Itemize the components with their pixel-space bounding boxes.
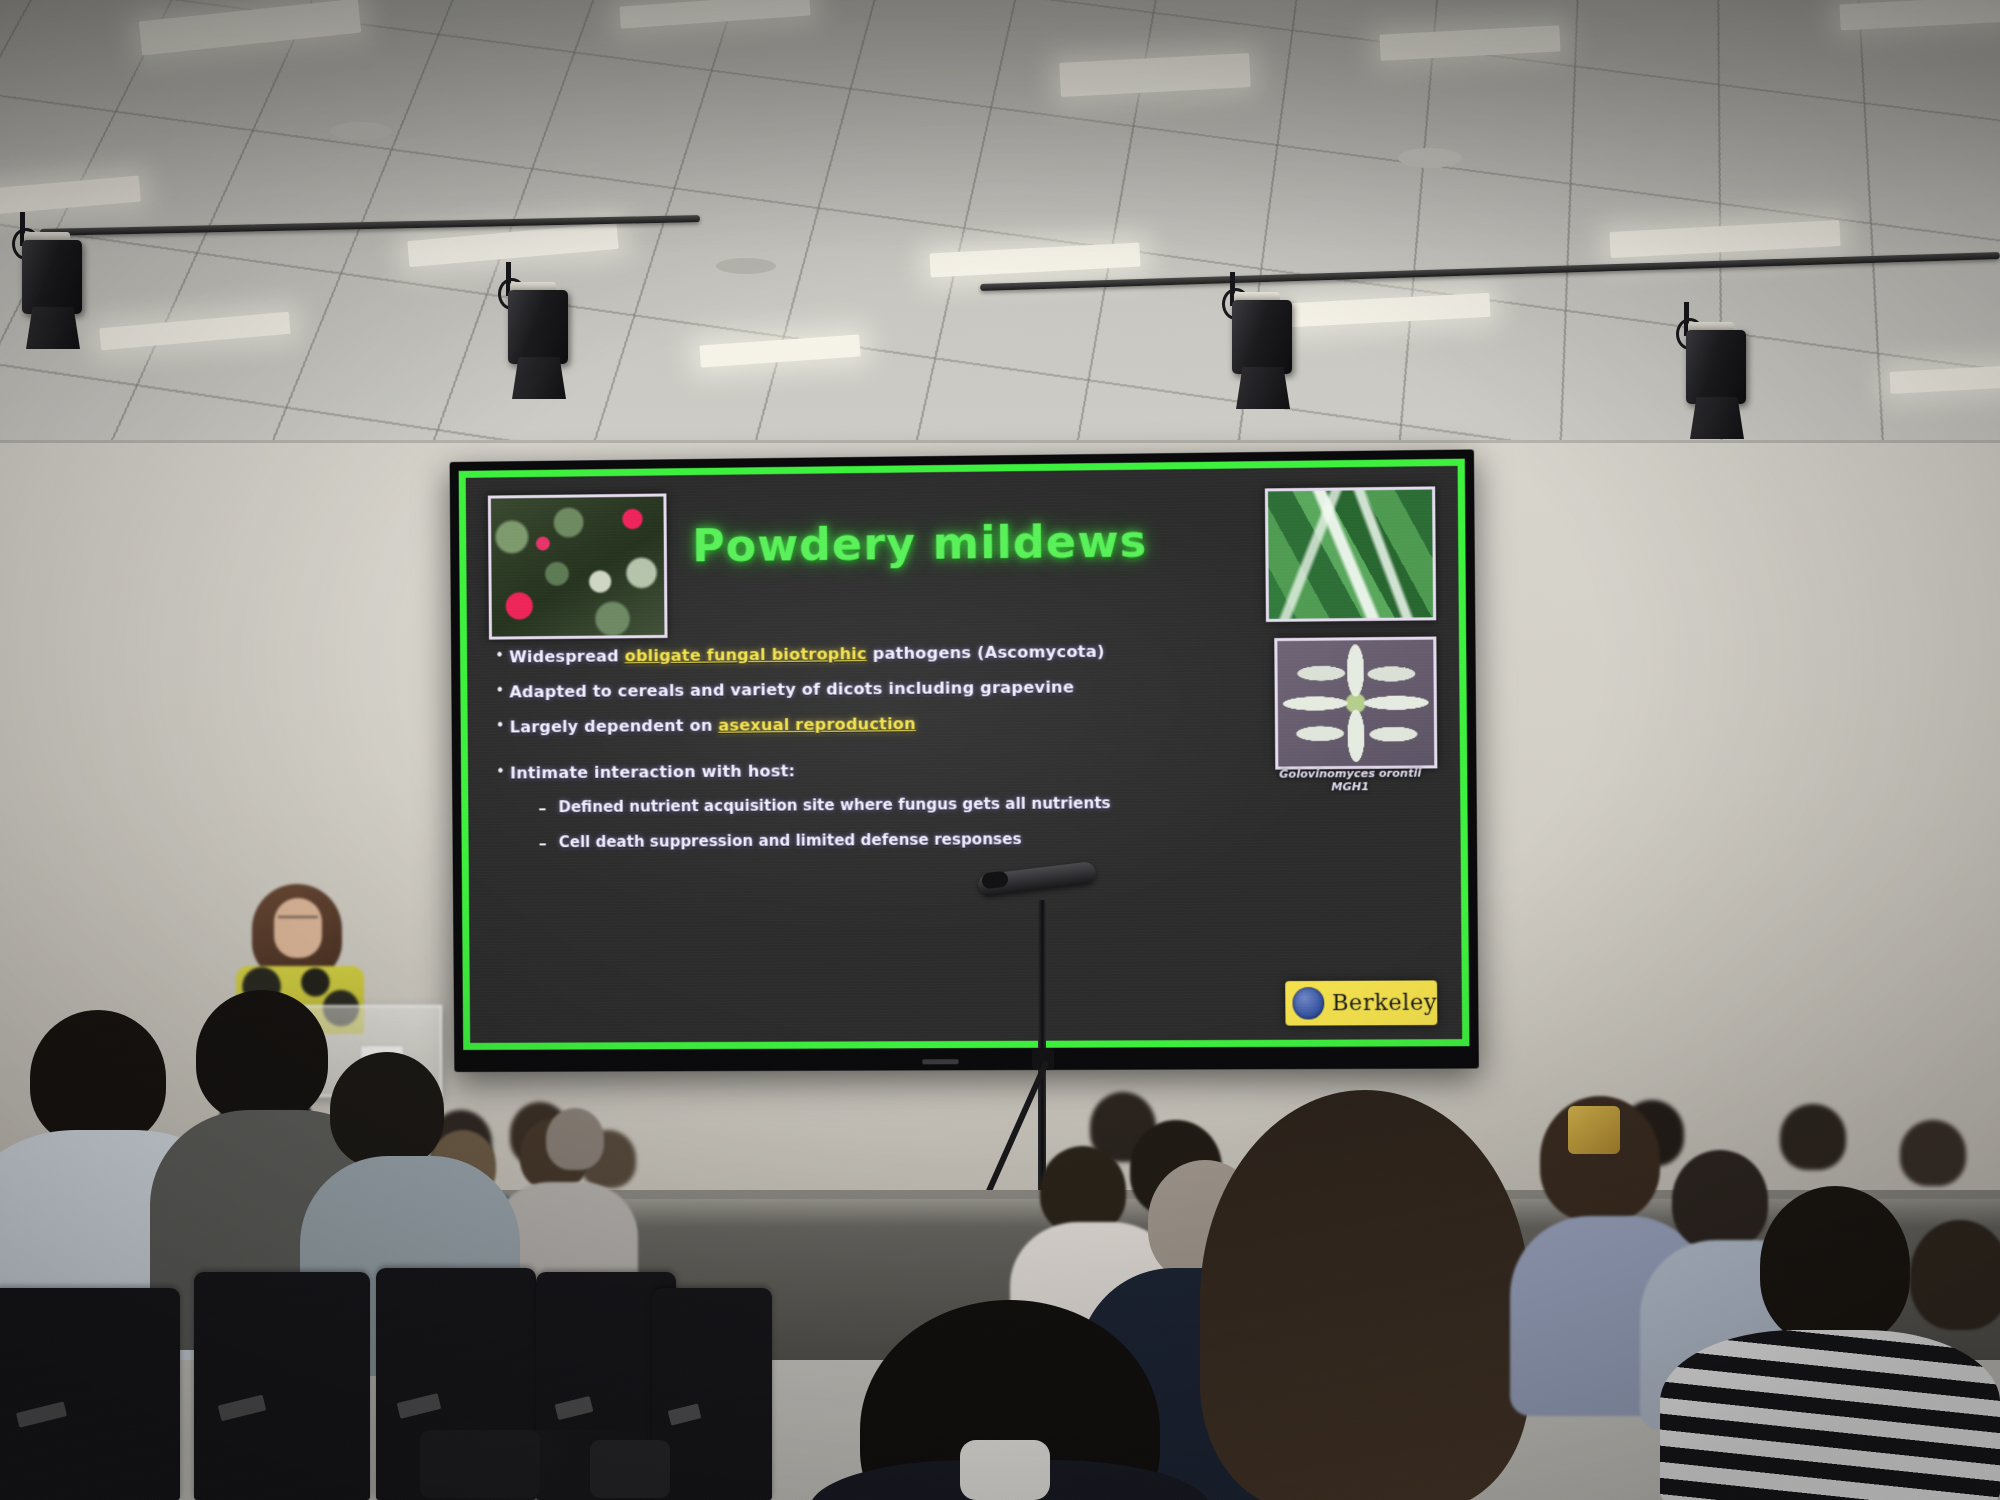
audience-head — [1760, 1186, 1910, 1346]
cereal-leaf-powdery-mildew-photo — [1265, 486, 1436, 622]
spotlight-barndoor — [1236, 367, 1290, 409]
bullet-text-part: Widespread — [509, 646, 625, 666]
bullet-dot-icon: • — [495, 683, 509, 700]
sub-bullet-dash-icon: – — [538, 798, 558, 817]
ceiling-speaker-dome — [1398, 148, 1462, 168]
audience-shoe — [960, 1440, 1050, 1500]
audience-striped-shirt — [1660, 1330, 2000, 1500]
audience-head — [1040, 1146, 1126, 1234]
presenter-glasses — [278, 916, 318, 928]
presenter-face — [274, 898, 322, 958]
sub-bullet-item: – Cell death suppression and limited def… — [539, 829, 1144, 852]
audience-head — [196, 990, 328, 1122]
sub-bullet-text: Defined nutrient acquisition site where … — [558, 794, 1110, 816]
stacking-chair — [194, 1272, 370, 1500]
bullet-text: Widespread obligate fungal biotrophic pa… — [509, 642, 1105, 667]
sub-bullet-text: Cell death suppression and limited defen… — [559, 830, 1022, 851]
bullet-text-part: pathogens (Ascomycota) — [867, 642, 1105, 663]
bullet-dot-icon: • — [495, 647, 509, 664]
bullet-dot-icon: • — [496, 763, 510, 780]
audience-head — [30, 1010, 166, 1146]
bullet-item: • Adapted to cereals and variety of dico… — [495, 677, 1142, 702]
arabidopsis-rosette-powdery-mildew-photo — [1274, 637, 1437, 770]
bullet-text: Adapted to cereals and variety of dicots… — [509, 678, 1074, 702]
audience-head-long-hair — [1200, 1090, 1530, 1500]
wall-seam — [0, 440, 2000, 443]
lecture-hall-photo: Golovinomyces orontii MGH1 Powdery milde… — [0, 0, 2000, 1500]
audience-head — [330, 1052, 444, 1168]
hair-clip-icon — [1568, 1106, 1620, 1154]
floor-bag — [420, 1430, 540, 1498]
spotlight-barndoor — [512, 357, 566, 399]
audience-head — [1780, 1104, 1846, 1170]
drop-ceiling — [0, 0, 2000, 460]
slide-surface: Golovinomyces orontii MGH1 Powdery milde… — [459, 459, 1470, 1050]
spotlight-body — [1232, 300, 1292, 374]
floor-bag — [590, 1440, 670, 1498]
image-caption: Golovinomyces orontii MGH1 — [1263, 766, 1438, 794]
audience-head — [1672, 1150, 1768, 1250]
spotlight-barndoor — [1690, 397, 1744, 439]
ceiling-speaker-dome — [330, 122, 392, 140]
bullet-highlight: obligate fungal biotrophic — [625, 644, 867, 665]
sub-bullet-dash-icon: – — [539, 833, 559, 852]
slide-title: Powdery mildews — [692, 516, 1148, 572]
rose-powdery-mildew-photo — [488, 493, 668, 639]
audience-head — [1910, 1220, 2000, 1330]
bullet-item: • Intimate interaction with host: — [496, 758, 1143, 782]
bullet-item: • Widespread obligate fungal biotrophic … — [495, 641, 1142, 666]
bullet-heading-text: Intimate interaction with host: — [510, 761, 795, 782]
spotlight-body — [508, 290, 568, 364]
spotlight-barndoor — [26, 307, 80, 349]
bullet-item: • Largely dependent on asexual reproduct… — [496, 712, 1143, 737]
bullet-dot-icon: • — [496, 718, 510, 735]
spotlight-body — [1686, 330, 1746, 404]
bullet-highlight: asexual reproduction — [718, 714, 916, 735]
audience-head — [546, 1108, 604, 1170]
ceiling-speaker-dome — [716, 258, 776, 274]
stacking-chair — [0, 1288, 180, 1500]
spotlight-body — [22, 240, 82, 314]
projection-screen: Golovinomyces orontii MGH1 Powdery milde… — [450, 449, 1479, 1072]
slide-bullet-list: • Widespread obligate fungal biotrophic … — [495, 641, 1143, 868]
sub-bullet-item: – Defined nutrient acquisition site wher… — [538, 794, 1143, 817]
bullet-text: Largely dependent on asexual reproductio… — [510, 714, 916, 737]
audience-head — [1900, 1120, 1966, 1186]
bullet-text-part: Largely dependent on — [510, 716, 719, 737]
seated-audience — [0, 1000, 2000, 1500]
stacking-chair — [652, 1288, 772, 1500]
